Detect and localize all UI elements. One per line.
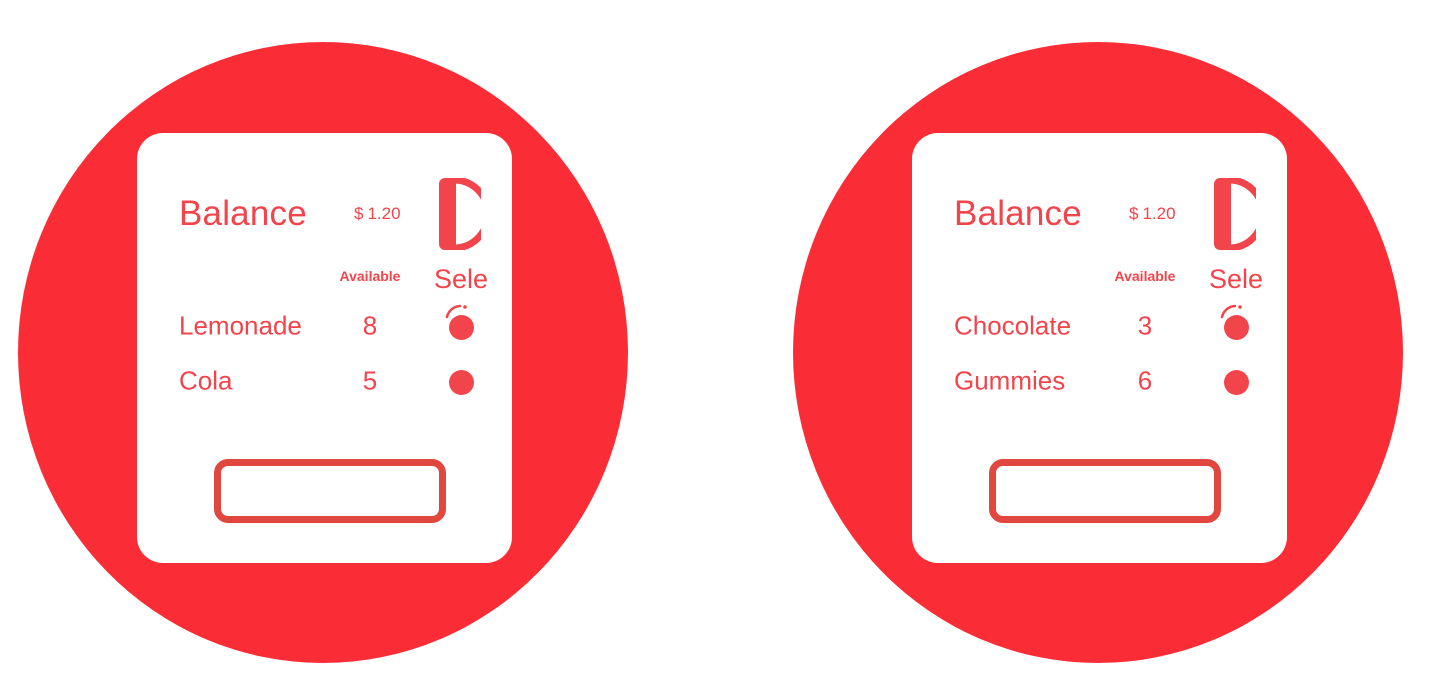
item-available-2-0: 3 xyxy=(1100,310,1190,341)
item-name-2-0: Chocolate xyxy=(954,310,1071,341)
vending-machine-1-backdrop: Balance $1.20 Available Sele Lemo xyxy=(18,42,628,663)
coin-slot-icon-2[interactable] xyxy=(1214,178,1256,250)
item-available-1-0: 8 xyxy=(325,310,415,341)
items-table-2: Available Sele Chocolate 3 Gumm xyxy=(912,268,1287,408)
item-available-2-1: 6 xyxy=(1100,365,1190,396)
balance-header-2: Balance $1.20 xyxy=(912,179,1287,249)
column-header-select-2: Sele xyxy=(1209,264,1263,295)
table-row: Gummies 6 xyxy=(912,353,1287,408)
table-row: Cola 5 xyxy=(137,353,512,408)
select-button-1-1[interactable] xyxy=(440,358,486,404)
currency-symbol-2: $ xyxy=(1129,204,1138,223)
table-row: Lemonade 8 xyxy=(137,298,512,353)
currency-symbol-1: $ xyxy=(354,204,363,223)
balance-label-2: Balance xyxy=(954,194,1082,234)
item-available-1-1: 5 xyxy=(325,365,415,396)
column-header-available-2: Available xyxy=(1100,268,1190,284)
vending-machines-stage: Balance $1.20 Available Sele Lemo xyxy=(0,0,1434,686)
vending-machine-1-card: Balance $1.20 Available Sele Lemo xyxy=(137,133,512,563)
items-table-1: Available Sele Lemonade 8 Cola xyxy=(137,268,512,408)
items-table-head-1: Available Sele xyxy=(137,268,512,298)
balance-amount-2: $1.20 xyxy=(1129,204,1176,224)
select-dot-icon xyxy=(449,315,474,340)
column-header-select-1: Sele xyxy=(434,264,488,295)
coin-slot-icon-1[interactable] xyxy=(439,178,481,250)
dispenser-tray-1[interactable] xyxy=(214,459,446,523)
balance-header-1: Balance $1.20 xyxy=(137,179,512,249)
items-table-head-2: Available Sele xyxy=(912,268,1287,298)
item-name-2-1: Gummies xyxy=(954,365,1065,396)
balance-label-1: Balance xyxy=(179,194,307,234)
select-button-2-0[interactable] xyxy=(1215,303,1261,349)
dispenser-tray-2[interactable] xyxy=(989,459,1221,523)
column-header-available-1: Available xyxy=(325,268,415,284)
vending-machine-2-backdrop: Balance $1.20 Available Sele Choc xyxy=(793,42,1403,663)
select-button-2-1[interactable] xyxy=(1215,358,1261,404)
item-name-1-1: Cola xyxy=(179,365,232,396)
select-dot-icon xyxy=(1224,315,1249,340)
balance-amount-1: $1.20 xyxy=(354,204,401,224)
item-name-1-0: Lemonade xyxy=(179,310,302,341)
balance-value-2: 1.20 xyxy=(1142,204,1175,223)
select-button-1-0[interactable] xyxy=(440,303,486,349)
vending-machine-2-card: Balance $1.20 Available Sele Choc xyxy=(912,133,1287,563)
select-dot-icon xyxy=(449,370,474,395)
balance-value-1: 1.20 xyxy=(367,204,400,223)
table-row: Chocolate 3 xyxy=(912,298,1287,353)
select-dot-icon xyxy=(1224,370,1249,395)
